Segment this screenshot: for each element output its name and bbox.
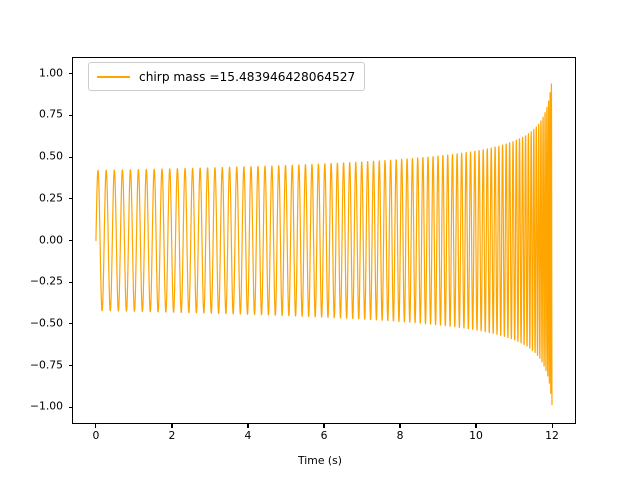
x-tick-label: 12 [545, 431, 559, 442]
y-tick-label: 0.50 [0, 152, 63, 163]
legend-box: chirp mass =15.483946428064527 [88, 62, 365, 91]
matplotlib-figure: 1.000.750.500.250.00−0.25−0.50−0.75−1.00… [0, 0, 640, 480]
x-tick-label: 10 [469, 431, 483, 442]
y-tick-label: 0.25 [0, 193, 63, 204]
y-tick-label: 0.75 [0, 110, 63, 121]
x-tick-label: 2 [169, 431, 176, 442]
x-tick-mark [95, 424, 96, 428]
y-tick-mark [69, 282, 73, 283]
y-tick-label: −0.75 [0, 360, 63, 371]
y-tick-mark [69, 365, 73, 366]
x-tick-mark [323, 424, 324, 428]
x-tick-mark [171, 424, 172, 428]
x-tick-label: 4 [245, 431, 252, 442]
y-tick-label: −0.50 [0, 319, 63, 330]
y-tick-label: 1.00 [0, 68, 63, 79]
legend-entry-label: chirp mass =15.483946428064527 [139, 70, 355, 84]
chirp-waveform-line [96, 84, 552, 405]
y-tick-mark [69, 198, 73, 199]
y-tick-label: 0.00 [0, 235, 63, 246]
y-tick-mark [69, 240, 73, 241]
x-tick-mark [552, 424, 553, 428]
x-tick-mark [399, 424, 400, 428]
x-tick-mark [475, 424, 476, 428]
y-tick-mark [69, 407, 73, 408]
y-tick-label: −1.00 [0, 402, 63, 413]
x-tick-label: 6 [321, 431, 328, 442]
y-tick-mark [69, 115, 73, 116]
y-tick-mark [69, 73, 73, 74]
y-tick-mark [69, 323, 73, 324]
x-tick-mark [247, 424, 248, 428]
legend-line-sample-icon [97, 76, 130, 78]
y-tick-label: −0.25 [0, 277, 63, 288]
x-tick-label: 8 [397, 431, 404, 442]
y-tick-mark [69, 157, 73, 158]
chirp-waveform-plot [72, 57, 576, 424]
x-tick-label: 0 [93, 431, 100, 442]
x-axis-label: Time (s) [0, 454, 640, 467]
